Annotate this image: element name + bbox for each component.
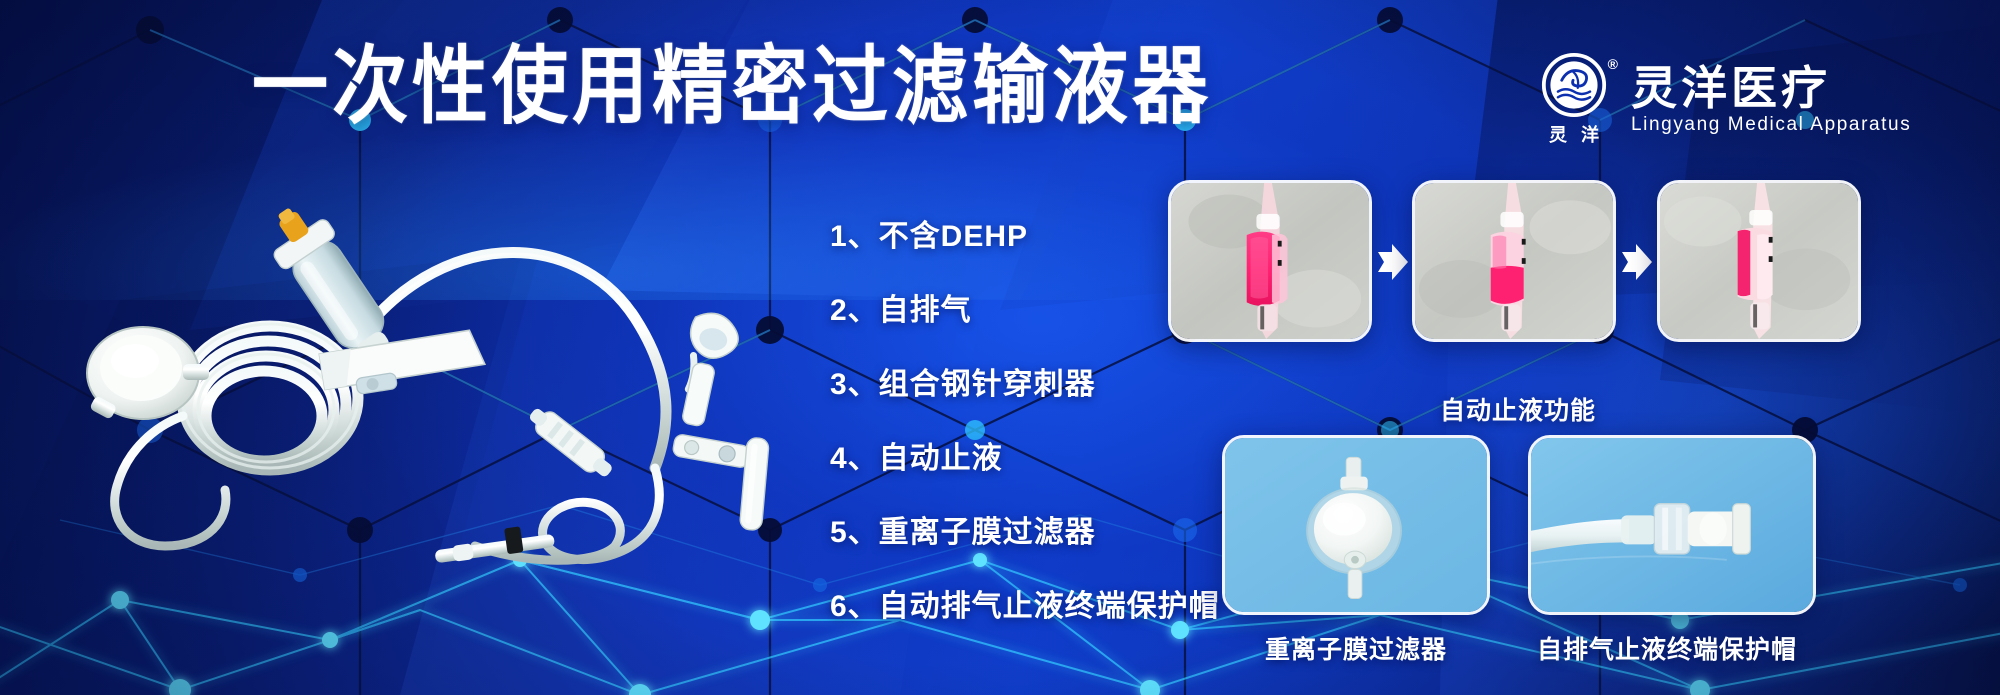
- product-photo: [55, 168, 775, 568]
- gallery-caption-cap: 自排气止液终端保护帽: [1537, 630, 1797, 666]
- gallery-caption-filter: 重离子膜过滤器: [1265, 630, 1447, 666]
- company-name-en: Lingyang Medical Apparatus: [1631, 115, 1911, 134]
- brand-logo: ® 灵洋 灵洋医疗 Lingyang Medical Apparatus: [1535, 52, 1911, 147]
- registered-mark-icon: ®: [1608, 56, 1618, 72]
- company-name-cn: 灵洋医疗: [1631, 65, 1911, 111]
- product-banner: 一次性使用精密过滤输液器 ® 灵洋 灵洋医疗 Lingyang Medical …: [0, 0, 2000, 695]
- sequence-photo-2: [1412, 180, 1616, 342]
- sequence-photo-1: [1168, 180, 1372, 342]
- feature-item: 1、不含DEHP: [830, 222, 1220, 252]
- logo-text: 灵洋医疗 Lingyang Medical Apparatus: [1631, 65, 1911, 134]
- logo-mark-caption: 灵洋: [1535, 121, 1613, 147]
- right-arrow-icon: [1376, 242, 1410, 282]
- feature-item: 4、自动止液: [830, 444, 1220, 474]
- feature-list: 1、不含DEHP 2、自排气 3、组合钢针穿刺器 4、自动止液 5、重离子膜过滤…: [830, 222, 1220, 622]
- logo-mark: ® 灵洋: [1535, 52, 1613, 147]
- feature-item: 2、自排气: [830, 296, 1220, 326]
- banner-title: 一次性使用精密过滤输液器: [252, 45, 1212, 130]
- circular-wave-emblem-icon: ®: [1541, 52, 1607, 118]
- sequence-photo-3: [1657, 180, 1861, 342]
- gallery-photo-filter: [1222, 435, 1490, 615]
- right-arrow-icon: [1620, 242, 1654, 282]
- gallery-photo-cap: [1528, 435, 1816, 615]
- feature-item: 3、组合钢针穿刺器: [830, 370, 1220, 400]
- sequence-caption: 自动止液功能: [1440, 391, 1596, 427]
- feature-item: 5、重离子膜过滤器: [830, 518, 1220, 548]
- feature-item: 6、自动排气止液终端保护帽: [830, 592, 1220, 622]
